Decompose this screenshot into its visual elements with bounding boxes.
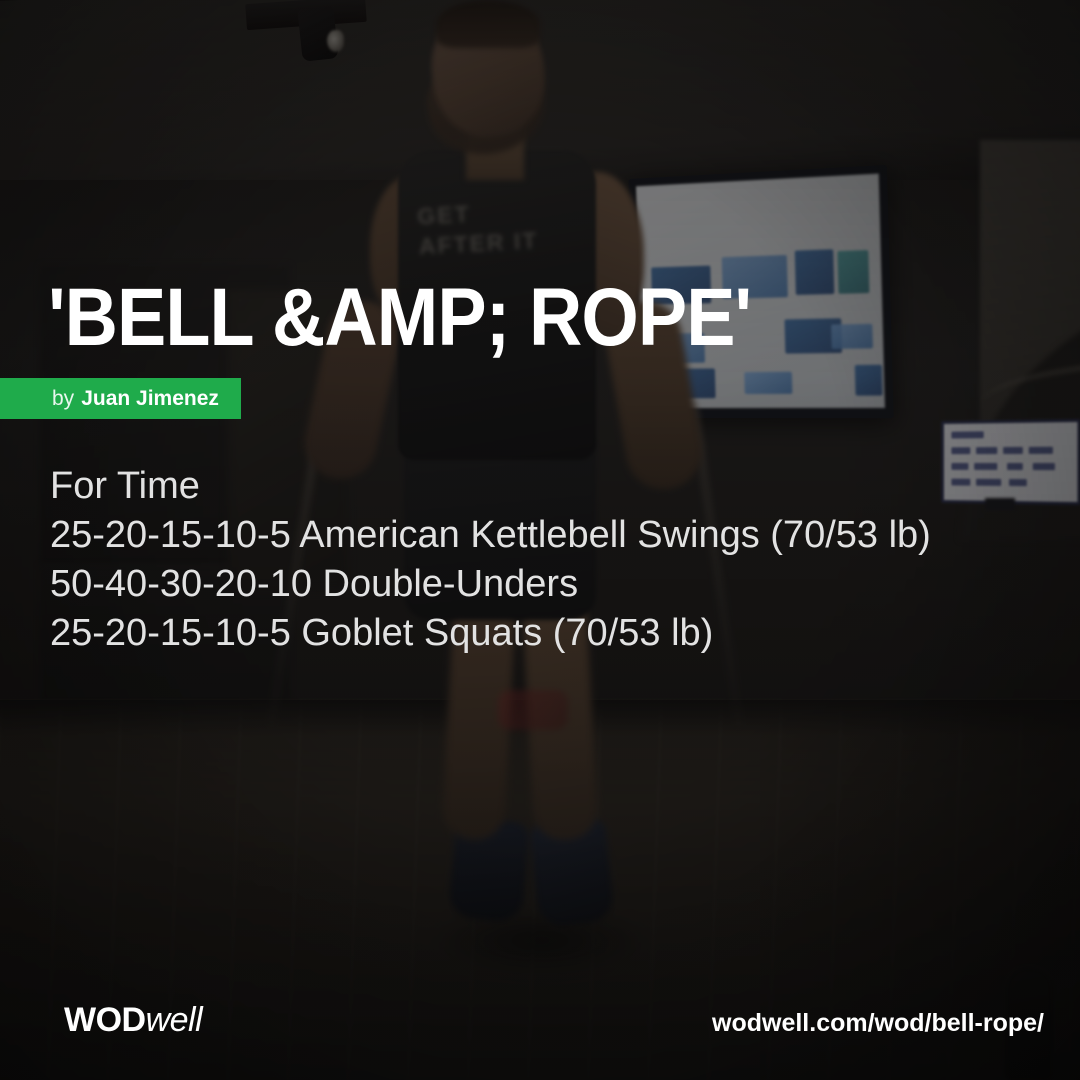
page-title: 'BELL &AMP; ROPE' bbox=[48, 274, 751, 362]
card-content: 'BELL &AMP; ROPE' by Juan Jimenez For Ti… bbox=[0, 0, 1080, 1080]
wod-image-card: GET AFTER IT 'BELL &AMP; ROPE' by Juan J… bbox=[0, 0, 1080, 1080]
workout-description: For Time 25-20-15-10-5 American Kettlebe… bbox=[50, 462, 1005, 658]
logo-wod-text: WOD bbox=[64, 1001, 146, 1039]
byline-prefix: by bbox=[52, 387, 74, 411]
wodwell-logo[interactable]: WODwell bbox=[64, 1001, 202, 1040]
logo-well-text: well bbox=[146, 1001, 203, 1039]
source-url[interactable]: wodwell.com/wod/bell-rope/ bbox=[712, 1009, 1044, 1038]
byline-author-name: Juan Jimenez bbox=[81, 387, 219, 411]
author-badge: by Juan Jimenez bbox=[0, 378, 241, 419]
